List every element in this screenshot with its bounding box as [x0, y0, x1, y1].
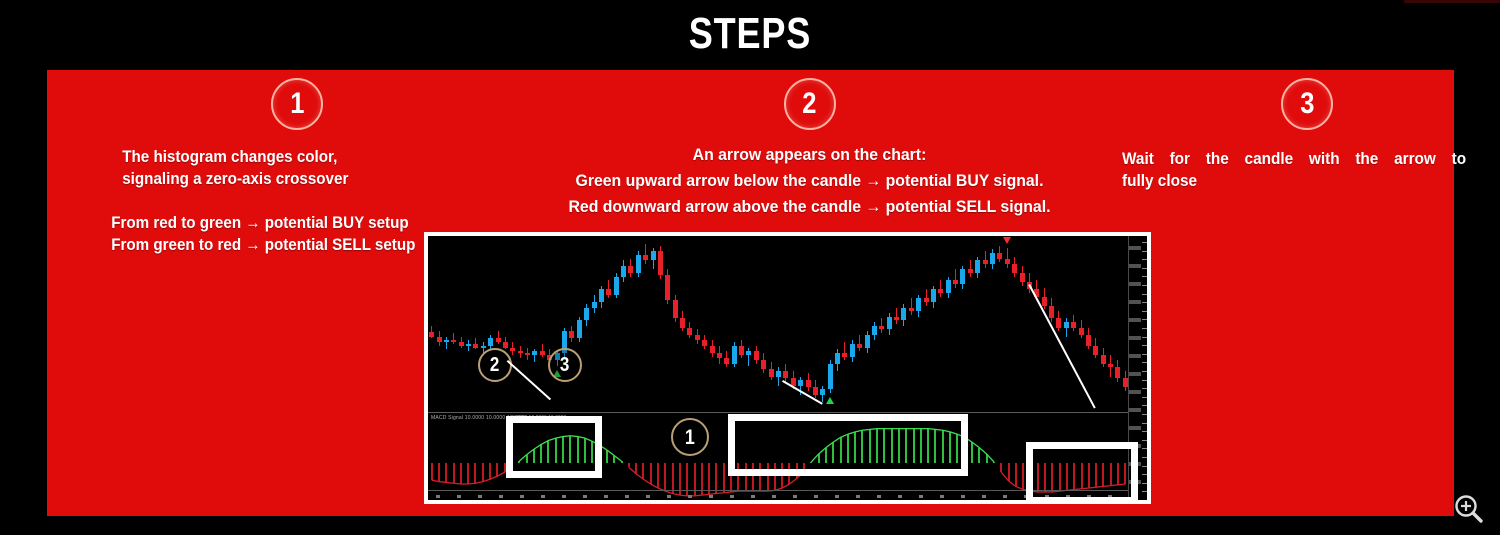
buy-arrow-marker — [826, 397, 834, 404]
trading-chart[interactable]: MACD Signal 10.0000 10.0000 10.0000 0.00… — [424, 232, 1151, 504]
histogram-bar — [496, 463, 498, 476]
axis-tick-label — [1129, 318, 1141, 322]
histogram-bar — [460, 463, 462, 484]
histogram-bar — [715, 463, 717, 493]
axis-tick-label — [1129, 282, 1141, 286]
histogram-bar — [613, 456, 615, 464]
step-1-line-1: The histogram changes color, — [122, 146, 461, 168]
time-tick — [436, 495, 440, 498]
time-tick — [541, 495, 545, 498]
histogram-bar — [467, 463, 469, 484]
step-badge-2-label: 2 — [802, 89, 816, 119]
step-column-2: 2 An arrow appears on the chart: Green u… — [517, 78, 1102, 220]
histogram-bar — [489, 463, 491, 479]
histogram-bar — [723, 463, 725, 492]
histogram-bar — [453, 463, 455, 483]
top-accent-bar-2 — [1404, 3, 1500, 5]
time-tick — [562, 495, 566, 498]
axis-tick — [1142, 380, 1147, 381]
sell-arrow-marker — [1003, 237, 1011, 244]
axis-tick — [1142, 371, 1147, 372]
axis-tick — [1142, 302, 1147, 303]
step-badge-2: 2 — [784, 78, 836, 130]
screenshot-root: STEPS 1 The histogram changes color, sig… — [0, 0, 1500, 535]
histogram-bar — [621, 461, 623, 463]
histogram-bar — [672, 463, 674, 493]
time-tick — [751, 495, 755, 498]
time-tick — [709, 495, 713, 498]
axis-tick-label — [1129, 408, 1141, 412]
highlight-box-2 — [728, 414, 968, 476]
page-title: STEPS — [135, 5, 1365, 63]
axis-tick — [1142, 448, 1147, 449]
axis-tick — [1142, 440, 1147, 441]
histogram-bar — [628, 463, 630, 467]
histogram-bar — [635, 463, 637, 473]
axis-tick — [1142, 268, 1147, 269]
chart-canvas[interactable]: MACD Signal 10.0000 10.0000 10.0000 0.00… — [428, 236, 1147, 500]
time-tick — [646, 495, 650, 498]
step-2-line-1: An arrow appears on the chart: — [537, 142, 1081, 168]
histogram-bar — [438, 463, 440, 481]
step-2-line-3: Red downward arrow above the candle → po… — [537, 194, 1081, 220]
histogram-bar — [1022, 463, 1024, 489]
axis-tick — [1142, 285, 1147, 286]
histogram-bar — [482, 463, 484, 481]
time-tick — [604, 495, 608, 498]
histogram-bar — [686, 463, 688, 495]
step-column-1: 1 The histogram changes color, signaling… — [102, 78, 492, 256]
axis-tick — [1142, 474, 1147, 475]
callout-circle-2: 2 — [478, 348, 512, 382]
axis-tick — [1142, 457, 1147, 458]
step-2-line-2: Green upward arrow below the candle → po… — [537, 168, 1081, 194]
axis-tick — [1142, 319, 1147, 320]
histogram-bar — [650, 463, 652, 484]
time-tick — [499, 495, 503, 498]
axis-tick-label — [1129, 354, 1141, 358]
histogram-bar — [1015, 463, 1017, 486]
time-tick — [919, 495, 923, 498]
step-3-line-1: Wait for the candle with the arrow to — [1122, 148, 1466, 170]
histogram-bar — [978, 448, 980, 464]
axis-tick — [1142, 397, 1147, 398]
time-tick — [898, 495, 902, 498]
time-tick — [1003, 495, 1007, 498]
histogram-bar — [986, 454, 988, 463]
axis-tick — [1142, 405, 1147, 406]
step-column-3: 3 Wait for the candle with the arrow to … — [1122, 78, 1492, 192]
step-1-extra-line-2: From green to red → potential SELL setup — [111, 234, 461, 256]
axis-tick — [1142, 259, 1147, 260]
axis-tick — [1142, 491, 1147, 492]
time-tick — [961, 495, 965, 498]
histogram-bar — [1008, 463, 1010, 480]
axis-tick-label — [1129, 390, 1141, 394]
step-1-extra-line-1: From red to green → potential BUY setup — [111, 212, 461, 234]
time-tick — [877, 495, 881, 498]
step-1-line-2: signaling a zero-axis crossover — [122, 168, 461, 190]
step-3-text: Wait for the candle with the arrow to fu… — [1122, 148, 1466, 192]
histogram-bar — [642, 463, 644, 479]
callout-1-label: 1 — [685, 427, 695, 448]
axis-tick-label — [1129, 426, 1141, 430]
time-tick — [688, 495, 692, 498]
histogram-bar — [431, 463, 433, 480]
axis-tick-label — [1129, 300, 1141, 304]
axis-tick-label — [1129, 372, 1141, 376]
axis-tick — [1142, 242, 1147, 243]
step-badge-1-label: 1 — [290, 89, 304, 119]
step-badge-1: 1 — [271, 78, 323, 130]
axis-tick — [1142, 483, 1147, 484]
time-tick — [583, 495, 587, 498]
time-tick — [940, 495, 944, 498]
axis-tick — [1142, 251, 1147, 252]
histogram-bar — [971, 442, 973, 463]
histogram-bar — [694, 463, 696, 495]
histogram-bar — [993, 462, 995, 464]
axis-tick — [1142, 466, 1147, 467]
step-1-extra: From red to green → potential BUY setup … — [102, 212, 461, 256]
axis-tick — [1142, 294, 1147, 295]
step-2-text: An arrow appears on the chart: Green upw… — [537, 142, 1081, 220]
axis-tick — [1142, 354, 1147, 355]
time-tick — [856, 495, 860, 498]
time-axis-ticks — [428, 492, 1129, 498]
time-tick — [478, 495, 482, 498]
axis-tick — [1142, 311, 1147, 312]
time-axis-line — [428, 490, 1129, 491]
step-1-text: The histogram changes color, signaling a… — [102, 146, 461, 190]
time-tick — [793, 495, 797, 498]
axis-tick — [1142, 414, 1147, 415]
axis-tick — [1142, 431, 1147, 432]
axis-tick-label — [1129, 264, 1141, 268]
time-tick — [667, 495, 671, 498]
step-badge-3: 3 — [1281, 78, 1333, 130]
time-tick — [625, 495, 629, 498]
highlight-box-1 — [506, 416, 602, 478]
time-tick — [772, 495, 776, 498]
histogram-bar — [474, 463, 476, 483]
callout-3-label: 3 — [560, 355, 569, 375]
axis-tick — [1142, 276, 1147, 277]
axis-tick — [1142, 388, 1147, 389]
time-tick — [982, 495, 986, 498]
zoom-in-icon[interactable] — [1452, 492, 1486, 526]
time-tick — [814, 495, 818, 498]
histogram-bar — [606, 450, 608, 463]
callout-circle-3: 3 — [548, 348, 582, 382]
axis-tick-label — [1129, 336, 1141, 340]
histogram-bar — [657, 463, 659, 488]
axis-tick — [1142, 345, 1147, 346]
histogram-bar — [445, 463, 447, 482]
histogram-bar — [664, 463, 666, 491]
highlight-box-3 — [1026, 442, 1138, 500]
histogram-bar — [1000, 463, 1002, 472]
time-tick — [520, 495, 524, 498]
axis-tick — [1142, 362, 1147, 363]
callout-2-label: 2 — [490, 355, 499, 375]
time-tick — [457, 495, 461, 498]
step-3-line-2: fully close — [1122, 170, 1466, 192]
axis-tick — [1142, 328, 1147, 329]
time-tick — [730, 495, 734, 498]
axis-tick — [1142, 423, 1147, 424]
axis-tick-label — [1129, 246, 1141, 250]
step-badge-3-label: 3 — [1300, 89, 1314, 119]
time-tick — [835, 495, 839, 498]
callout-circle-1: 1 — [671, 418, 709, 456]
axis-tick — [1142, 337, 1147, 338]
